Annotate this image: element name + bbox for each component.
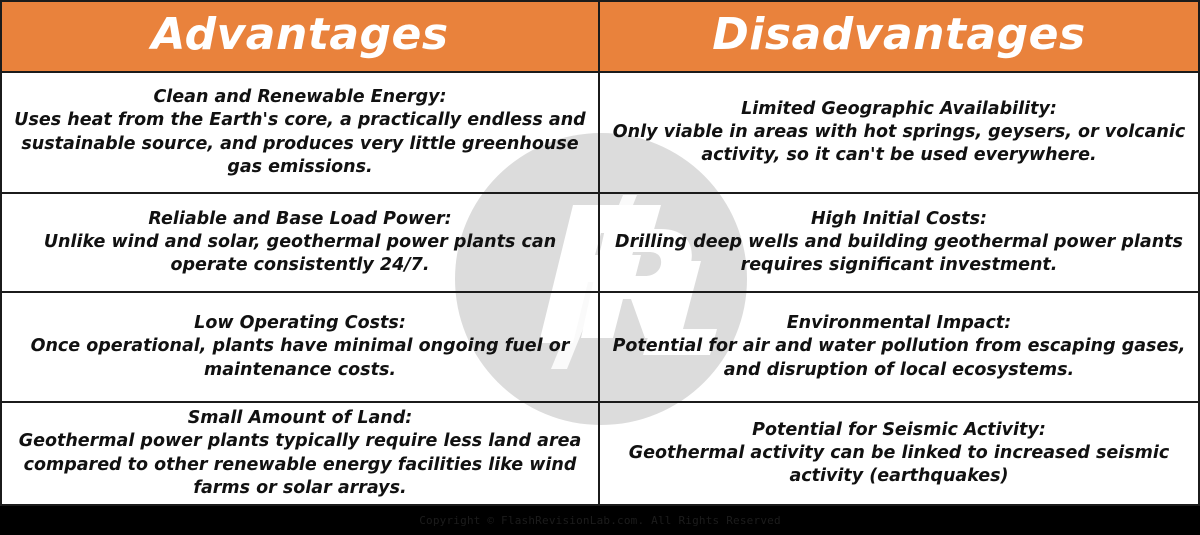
advantage-cell-2: Reliable and Base Load Power: Unlike win…: [2, 194, 600, 291]
cell-body: Geothermal activity can be linked to inc…: [606, 442, 1192, 489]
comparison-table-page: Advantages Disadvantages Clean and Renew…: [0, 0, 1200, 535]
table-row: Small Amount of Land: Geothermal power p…: [2, 403, 1198, 504]
disadvantage-cell-4: Potential for Seismic Activity: Geotherm…: [600, 403, 1198, 504]
cell-title: Small Amount of Land:: [188, 407, 413, 430]
cell-title: Reliable and Base Load Power:: [148, 208, 451, 231]
cell-body: Potential for air and water pollution fr…: [606, 335, 1192, 382]
cell-title: Environmental Impact:: [787, 312, 1012, 335]
cell-title: Clean and Renewable Energy:: [153, 86, 446, 109]
cell-body: Only viable in areas with hot springs, g…: [606, 121, 1192, 168]
footer-bar: Copyright © FlashRevisionLab.com. All Ri…: [0, 506, 1200, 535]
advantages-disadvantages-table: Advantages Disadvantages Clean and Renew…: [0, 0, 1200, 506]
cell-title: Low Operating Costs:: [194, 312, 406, 335]
cell-body: Once operational, plants have minimal on…: [8, 335, 592, 382]
copyright-text: Copyright © FlashRevisionLab.com. All Ri…: [419, 514, 781, 527]
cell-title: High Initial Costs:: [811, 208, 987, 231]
cell-body: Geothermal power plants typically requir…: [8, 430, 592, 500]
cell-title: Limited Geographic Availability:: [741, 98, 1057, 121]
advantage-cell-1: Clean and Renewable Energy: Uses heat fr…: [2, 73, 600, 192]
cell-body: Unlike wind and solar, geothermal power …: [8, 231, 592, 278]
column-header-disadvantages: Disadvantages: [600, 2, 1198, 71]
advantage-cell-4: Small Amount of Land: Geothermal power p…: [2, 403, 600, 504]
disadvantage-cell-3: Environmental Impact: Potential for air …: [600, 293, 1198, 401]
table-row: Low Operating Costs: Once operational, p…: [2, 293, 1198, 403]
table-header-row: Advantages Disadvantages: [2, 2, 1198, 73]
advantage-cell-3: Low Operating Costs: Once operational, p…: [2, 293, 600, 401]
column-header-advantages: Advantages: [2, 2, 600, 71]
cell-title: Potential for Seismic Activity:: [752, 419, 1046, 442]
disadvantage-cell-1: Limited Geographic Availability: Only vi…: [600, 73, 1198, 192]
table-row: Clean and Renewable Energy: Uses heat fr…: [2, 73, 1198, 194]
disadvantage-cell-2: High Initial Costs: Drilling deep wells …: [600, 194, 1198, 291]
cell-body: Uses heat from the Earth's core, a pract…: [8, 109, 592, 179]
table-row: Reliable and Base Load Power: Unlike win…: [2, 194, 1198, 293]
cell-body: Drilling deep wells and building geother…: [606, 231, 1192, 278]
